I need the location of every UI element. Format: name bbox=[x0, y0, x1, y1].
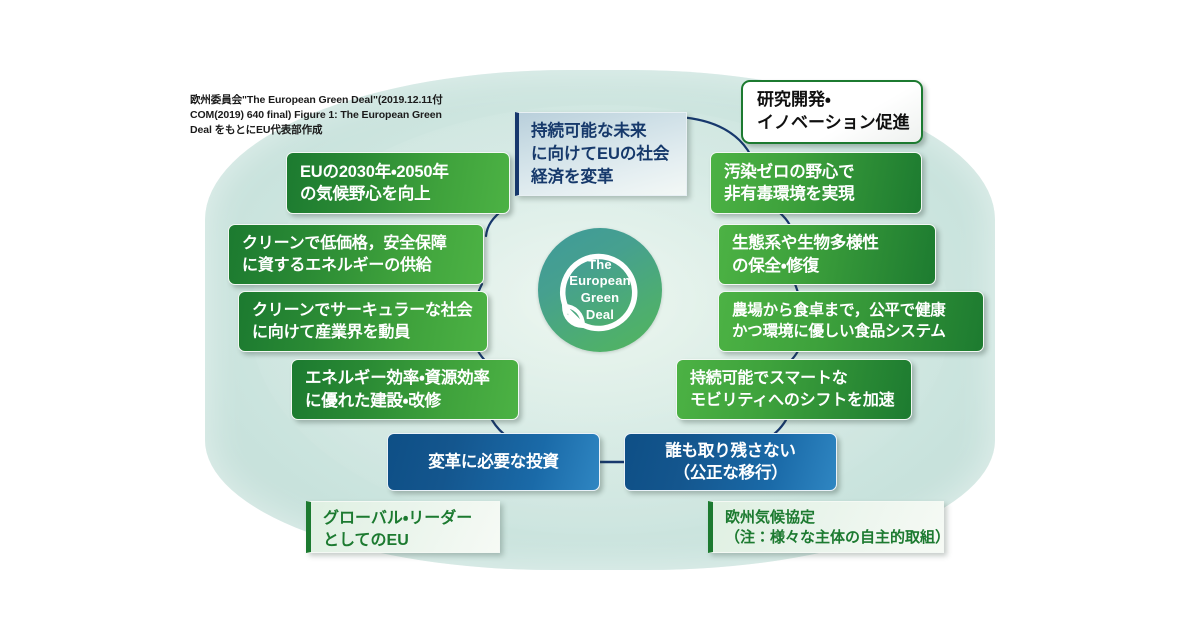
node-circular-industry[interactable]: クリーンでサーキュラーな社会 に向けて産業界を動員 bbox=[238, 291, 488, 352]
node-label-line-2: 非有毒環境を実現 bbox=[724, 183, 908, 205]
node-energy-resource-efficient-building[interactable]: エネルギー効率・資源効率 に優れた建設・改修 bbox=[291, 359, 519, 420]
node-label-line-1: エネルギー効率・資源効率 bbox=[305, 367, 505, 389]
node-sustainable-smart-mobility[interactable]: 持続可能でスマートな モビリティへのシフトを加速 bbox=[676, 359, 912, 420]
node-label-line-3: 経済を変革 bbox=[531, 166, 677, 189]
node-label-line-1: EUの2030年・2050年 bbox=[300, 161, 496, 183]
node-investment-for-transition[interactable]: 変革に必要な投資 bbox=[387, 433, 600, 491]
node-label-line-1: 汚染ゼロの野心で bbox=[724, 161, 908, 183]
node-label-line-2: の気候野心を向上 bbox=[300, 183, 496, 205]
node-label-line-1: 誰も取り残さない bbox=[665, 440, 795, 462]
node-label-line-2: かつ環境に優しい食品システム bbox=[732, 322, 970, 343]
node-climate-ambition[interactable]: EUの2030年・2050年 の気候野心を向上 bbox=[286, 152, 510, 214]
node-label-line-2: イノベーション促進 bbox=[757, 112, 907, 135]
node-farm-to-fork[interactable]: 農場から食卓まで，公平で健康 かつ環境に優しい食品システム bbox=[718, 291, 984, 352]
emblem-line-1: The bbox=[588, 257, 612, 274]
node-label-line-2: （注：様々な主体の自主的取組） bbox=[725, 528, 934, 548]
node-label-line-1: クリーンでサーキュラーな社会 bbox=[252, 300, 474, 322]
node-label-line-1: 変革に必要な投資 bbox=[428, 451, 558, 473]
node-label-line-1: 欧州気候協定 bbox=[725, 508, 934, 528]
node-eu-as-global-leader[interactable]: グローバル・リーダー としてのEU bbox=[306, 501, 500, 553]
node-label-line-2: に向けてEUの社会 bbox=[531, 143, 677, 166]
source-note: 欧州委員会"The European Green Deal"(2019.12.1… bbox=[190, 93, 458, 138]
node-label-line-2: の保全・修復 bbox=[732, 255, 922, 277]
emblem-line-4: Deal bbox=[586, 307, 614, 324]
node-label-line-1: 持続可能でスマートな bbox=[690, 368, 898, 390]
node-label-line-1: 生態系や生物多様性 bbox=[732, 232, 922, 254]
node-label-line-1: 持続可能な未来 bbox=[531, 120, 677, 143]
node-zero-pollution[interactable]: 汚染ゼロの野心で 非有毒環境を実現 bbox=[710, 152, 922, 214]
node-research-development-innovation[interactable]: 研究開発・ イノベーション促進 bbox=[741, 80, 923, 144]
emblem-line-2: European bbox=[569, 273, 631, 290]
green-deal-diagram: 欧州委員会"The European Green Deal"(2019.12.1… bbox=[0, 0, 1200, 630]
node-european-climate-pact[interactable]: 欧州気候協定 （注：様々な主体の自主的取組） bbox=[708, 501, 944, 553]
node-label-line-2: モビリティへのシフトを加速 bbox=[690, 390, 898, 412]
center-emblem: The European Green Deal bbox=[538, 228, 662, 352]
node-label-line-2: に資するエネルギーの供給 bbox=[242, 255, 470, 277]
node-label-line-2: としてのEU bbox=[323, 530, 490, 552]
node-label-line-1: クリーンで低価格，安全保障 bbox=[242, 233, 470, 255]
node-label-line-2: （公正な移行） bbox=[673, 462, 787, 484]
node-label-line-1: 研究開発・ bbox=[757, 89, 907, 112]
emblem-text: The European Green Deal bbox=[538, 228, 662, 352]
node-label-line-2: に向けて産業界を動員 bbox=[252, 322, 474, 344]
node-label-line-2: に優れた建設・改修 bbox=[305, 390, 505, 412]
source-note-line-3: をもとにEU代表部作成 bbox=[215, 124, 323, 136]
node-leave-no-one-behind[interactable]: 誰も取り残さない （公正な移行） bbox=[624, 433, 837, 491]
node-ecosystem-biodiversity[interactable]: 生態系や生物多様性 の保全・修復 bbox=[718, 224, 936, 285]
emblem-line-3: Green bbox=[581, 290, 620, 307]
node-label-line-1: 農場から食卓まで，公平で健康 bbox=[732, 301, 970, 322]
node-label-line-1: グローバル・リーダー bbox=[323, 508, 490, 530]
node-transform-eu-economy[interactable]: 持続可能な未来 に向けてEUの社会 経済を変革 bbox=[515, 112, 687, 196]
source-note-line-1: 欧州委員会"The European Green Deal"(2019.12.1… bbox=[190, 94, 443, 106]
node-clean-affordable-energy[interactable]: クリーンで低価格，安全保障 に資するエネルギーの供給 bbox=[228, 224, 484, 285]
